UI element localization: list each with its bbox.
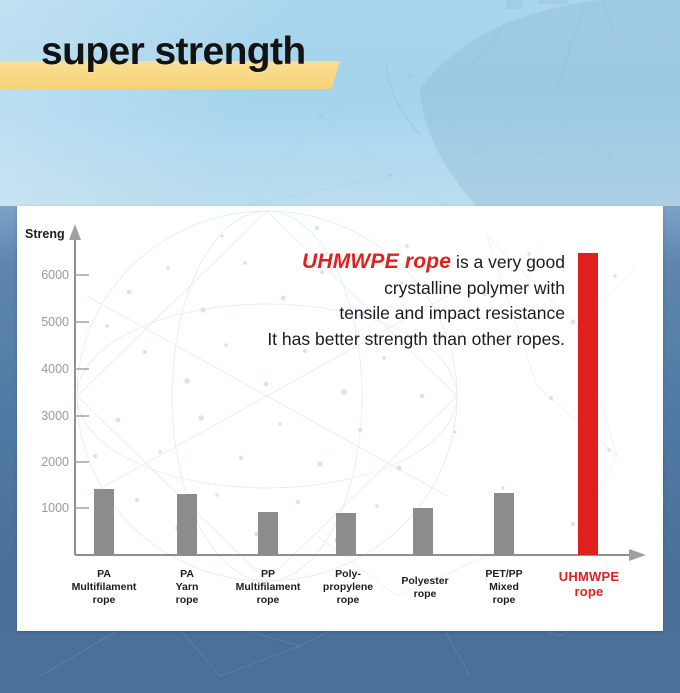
x-label-line: Polyester bbox=[383, 575, 467, 588]
x-label-line: rope bbox=[151, 594, 223, 607]
strength-bar-chart: Streng 6000 5000 4000 3000 2000 1000 PA bbox=[17, 206, 663, 631]
x-label-line: Multifilament bbox=[223, 581, 313, 594]
x-label-line: Mixed bbox=[468, 581, 540, 594]
x-label-pa-multifilament-rope: PA Multifilament rope bbox=[59, 568, 149, 607]
x-label-line: Yarn bbox=[151, 581, 223, 594]
callout-line-2: crystalline polymer with bbox=[225, 276, 565, 302]
callout-line-1-rest: is a very good bbox=[451, 252, 565, 272]
x-label-pp-multifilament-rope: PP Multifilament rope bbox=[223, 568, 313, 607]
x-label-line: rope bbox=[223, 594, 313, 607]
x-label-line: rope bbox=[541, 584, 637, 599]
bar-polyester-rope bbox=[413, 508, 433, 555]
x-label-line: rope bbox=[383, 588, 467, 601]
bar-petpp-mixed-rope bbox=[494, 493, 514, 555]
x-label-line: rope bbox=[468, 594, 540, 607]
callout-line-1: UHMWPE rope is a very good bbox=[225, 249, 565, 276]
x-label-pa-yarn-rope: PA Yarn rope bbox=[151, 568, 223, 607]
bar-pa-multifilament-rope bbox=[94, 489, 114, 555]
callout-brand: UHMWPE rope bbox=[302, 250, 451, 273]
x-label-petpp-mixed-rope: PET/PP Mixed rope bbox=[468, 568, 540, 607]
x-label-polyester-rope: Polyester rope bbox=[383, 575, 467, 601]
x-label-line: rope bbox=[59, 594, 149, 607]
x-label-line: rope bbox=[312, 594, 384, 607]
page-title: super strength bbox=[41, 32, 306, 71]
callout-text: UHMWPE rope is a very good crystalline p… bbox=[225, 249, 565, 352]
callout-line-4: It has better strength than other ropes. bbox=[225, 327, 565, 353]
x-label-line: PET/PP bbox=[468, 568, 540, 581]
x-label-line: propylene bbox=[312, 581, 384, 594]
chart-card: Streng 6000 5000 4000 3000 2000 1000 PA bbox=[17, 206, 663, 631]
slide-root: super strength bbox=[0, 0, 680, 693]
header-banner-area: super strength bbox=[0, 0, 680, 206]
x-label-line: PA bbox=[151, 568, 223, 581]
x-label-line: Multifilament bbox=[59, 581, 149, 594]
x-label-line: Poly- bbox=[312, 568, 384, 581]
x-label-line: UHMWPE bbox=[541, 569, 637, 584]
bar-uhmwpe-rope bbox=[578, 253, 598, 555]
x-label-line: PA bbox=[59, 568, 149, 581]
bar-polypropylene-rope bbox=[336, 513, 356, 555]
x-label-polypropylene-rope: Poly- propylene rope bbox=[312, 568, 384, 607]
bar-pp-multifilament-rope bbox=[258, 512, 278, 555]
x-label-uhmwpe-rope: UHMWPE rope bbox=[541, 569, 637, 599]
bar-pa-yarn-rope bbox=[177, 494, 197, 555]
x-label-line: PP bbox=[223, 568, 313, 581]
callout-line-3: tensile and impact resistance bbox=[225, 301, 565, 327]
